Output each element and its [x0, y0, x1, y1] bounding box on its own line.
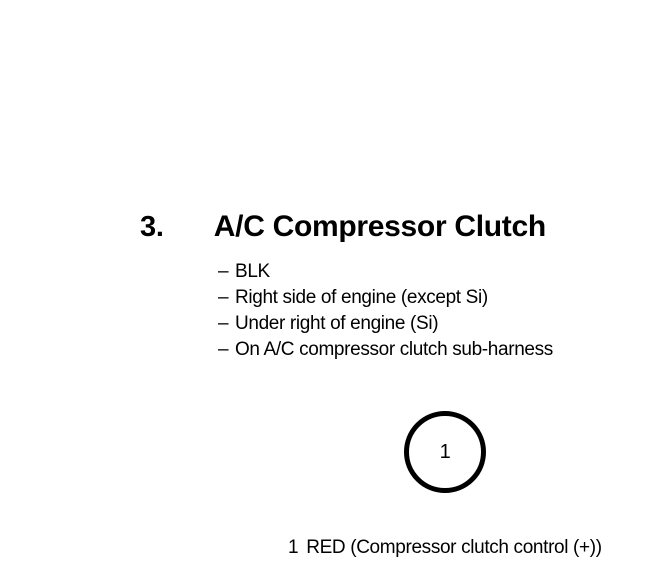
document-page: 3. A/C Compressor Clutch – BLK – Right s…: [0, 0, 672, 564]
terminal-number-label: 1: [440, 442, 451, 462]
dash-bullet-icon: –: [218, 285, 235, 311]
connector-diagram: 1: [404, 411, 486, 493]
spec-location-alternate: Under right of engine (Si): [235, 311, 438, 337]
terminal-legend-pin: 1: [288, 537, 298, 559]
dash-bullet-icon: –: [218, 337, 235, 363]
dash-bullet-icon: –: [218, 259, 235, 285]
spec-wire-color: BLK: [235, 259, 270, 285]
page-title: A/C Compressor Clutch: [214, 210, 546, 244]
spec-location-primary: Right side of engine (except Si): [235, 285, 488, 311]
section-heading: 3. A/C Compressor Clutch: [140, 210, 546, 244]
dash-bullet-icon: –: [218, 311, 235, 337]
specification-list: – BLK – Right side of engine (except Si)…: [218, 259, 553, 363]
terminal-legend-description: RED (Compressor clutch control (+)): [306, 537, 602, 559]
list-item: – On A/C compressor clutch sub-harness: [218, 337, 553, 363]
terminal-legend: 1 RED (Compressor clutch control (+)): [288, 537, 602, 559]
list-item: – Right side of engine (except Si): [218, 285, 553, 311]
spec-harness: On A/C compressor clutch sub-harness: [235, 337, 553, 363]
connector-circle-icon: 1: [404, 411, 486, 493]
list-item: – Under right of engine (Si): [218, 311, 553, 337]
list-item: – BLK: [218, 259, 553, 285]
section-number: 3.: [140, 211, 164, 244]
